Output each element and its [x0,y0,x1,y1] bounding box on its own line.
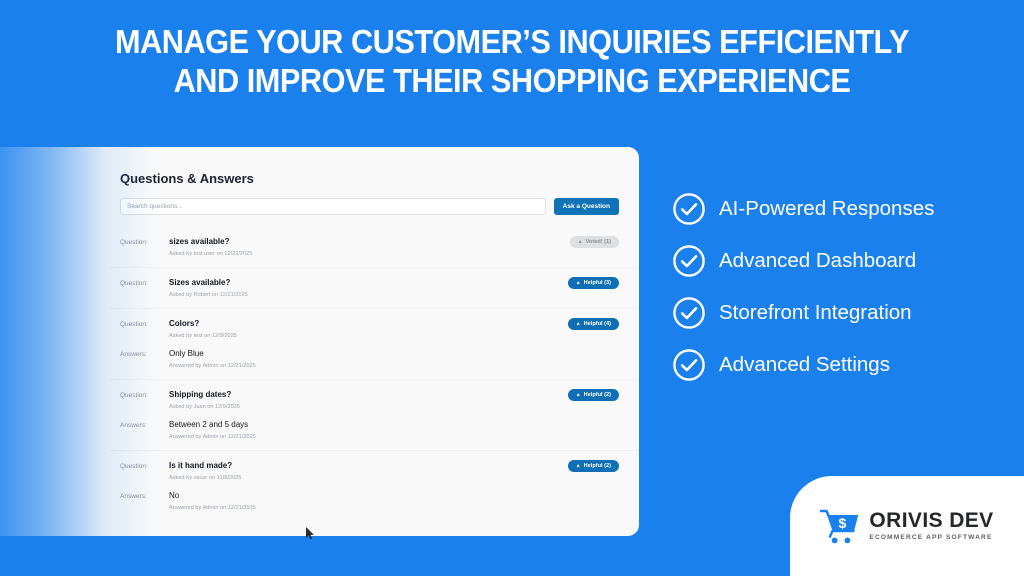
qa-question-text: Shipping dates? [169,389,619,400]
qa-answer-body: Between 2 and 5 daysAnswered by Admin on… [169,419,619,441]
question-label: Question: [120,392,160,399]
qa-question-body: Shipping dates?Asked by Juan on 12/9/202… [169,389,619,411]
qa-panel-title: Questions & Answers [120,171,639,186]
qa-question-line: Question:Sizes available?Asked by Robert… [120,277,619,299]
badge-label: Helpful (2) [584,463,611,469]
qa-answer-line: Answers:Only BlueAnswered by Admin on 12… [120,348,619,370]
qa-question-text: Colors? [169,318,619,329]
page-headline: Manage your customer’s inquiries efficie… [36,22,988,100]
helpful-button[interactable]: ▲Helpful (3) [568,277,619,289]
badge-label: Helpful (4) [584,321,611,327]
qa-answer-meta: Answered by Admin on 12/21/2025 [169,504,619,512]
qa-row: Question:Sizes available?Asked by Robert… [110,267,639,308]
badge-label: Voted! (1) [586,239,611,245]
qa-question-text: sizes available? [169,236,619,247]
qa-search-row: Search questions... Ask a Question [120,198,639,215]
check-circle-icon [672,296,706,330]
qa-row: Question:Is it hand made?Asked by oscar … [110,450,639,521]
badge-label: Helpful (2) [584,392,611,398]
feature-item: Advanced Settings [672,339,1002,391]
logo-tagline: ECOMMERCE APP SOFTWARE [869,533,993,543]
qa-panel: Questions & Answers Search questions... … [110,147,639,536]
qa-question-line: Question:Colors?Asked by test on 12/9/20… [120,318,619,340]
qa-answer-line: Answers:Between 2 and 5 daysAnswered by … [120,419,619,441]
feature-label: Advanced Settings [719,353,890,377]
brand-logo-panel: $ ORIVIS DEV ECOMMERCE APP SOFTWARE [790,476,1024,576]
qa-answer-text: No [169,490,619,501]
qa-answer-meta: Answered by Admin on 12/21/2025 [169,433,619,441]
qa-question-meta: Asked by test user on 12/22/2025 [169,250,619,258]
feature-item: Advanced Dashboard [672,235,1002,287]
shopping-cart-dollar-icon: $ [820,508,860,544]
logo-name: ORIVIS DEV [869,510,993,532]
search-placeholder: Search questions... [127,203,183,210]
product-screenshot-card: Questions & Answers Search questions... … [0,147,639,536]
qa-answer-meta: Answered by Admin on 12/21/2025 [169,362,619,370]
svg-text:$: $ [839,515,847,531]
feature-label: Advanced Dashboard [719,249,916,273]
qa-question-line: Question:sizes available?Asked by test u… [120,236,619,258]
feature-list: AI-Powered ResponsesAdvanced DashboardSt… [672,183,1002,391]
qa-answer-body: Only BlueAnswered by Admin on 12/21/2025 [169,348,619,370]
thumbs-up-icon: ▲ [576,393,581,398]
answers-label: Answers: [120,422,160,429]
voted-badge[interactable]: ▲Voted! (1) [570,236,619,248]
qa-question-body: Sizes available?Asked by Robert on 12/21… [169,277,619,299]
qa-question-line: Question:Is it hand made?Asked by oscar … [120,460,619,482]
helpful-button[interactable]: ▲Helpful (4) [568,318,619,330]
ask-a-question-button[interactable]: Ask a Question [554,198,619,215]
qa-question-meta: Asked by Robert on 12/21/2025 [169,291,619,299]
question-label: Question: [120,280,160,287]
feature-item: AI-Powered Responses [672,183,1002,235]
logo-text-block: ORIVIS DEV ECOMMERCE APP SOFTWARE [869,510,993,543]
qa-answer-body: NoAnswered by Admin on 12/21/2025 [169,490,619,512]
qa-list: Question:sizes available?Asked by test u… [110,227,639,521]
helpful-button[interactable]: ▲Helpful (2) [568,460,619,472]
qa-answer-text: Between 2 and 5 days [169,419,619,430]
feature-label: Storefront Integration [719,301,912,325]
feature-item: Storefront Integration [672,287,1002,339]
check-circle-icon [672,244,706,278]
feature-label: AI-Powered Responses [719,197,934,221]
qa-row: Question:sizes available?Asked by test u… [110,227,639,267]
qa-question-body: sizes available?Asked by test user on 12… [169,236,619,258]
qa-question-meta: Asked by oscar on 12/8/2025 [169,474,619,482]
qa-answer-text: Only Blue [169,348,619,359]
answers-label: Answers: [120,351,160,358]
check-circle-icon [672,348,706,382]
question-label: Question: [120,463,160,470]
thumbs-up-icon: ▲ [578,240,583,245]
qa-question-meta: Asked by Juan on 12/9/2025 [169,403,619,411]
qa-question-line: Question:Shipping dates?Asked by Juan on… [120,389,619,411]
mouse-cursor-icon [306,527,315,540]
qa-row: Question:Colors?Asked by test on 12/9/20… [110,308,639,379]
helpful-button[interactable]: ▲Helpful (2) [568,389,619,401]
qa-question-body: Is it hand made?Asked by oscar on 12/8/2… [169,460,619,482]
qa-question-meta: Asked by test on 12/9/2025 [169,332,619,340]
qa-question-text: Sizes available? [169,277,619,288]
question-label: Question: [120,239,160,246]
check-circle-icon [672,192,706,226]
badge-label: Helpful (3) [584,280,611,286]
thumbs-up-icon: ▲ [576,464,581,469]
question-label: Question: [120,321,160,328]
thumbs-up-icon: ▲ [576,281,581,286]
qa-row: Question:Shipping dates?Asked by Juan on… [110,379,639,450]
thumbs-up-icon: ▲ [576,322,581,327]
answers-label: Answers: [120,493,160,500]
search-input[interactable]: Search questions... [120,198,546,215]
qa-answer-line: Answers:NoAnswered by Admin on 12/21/202… [120,490,619,512]
qa-question-text: Is it hand made? [169,460,619,471]
qa-question-body: Colors?Asked by test on 12/9/2025 [169,318,619,340]
